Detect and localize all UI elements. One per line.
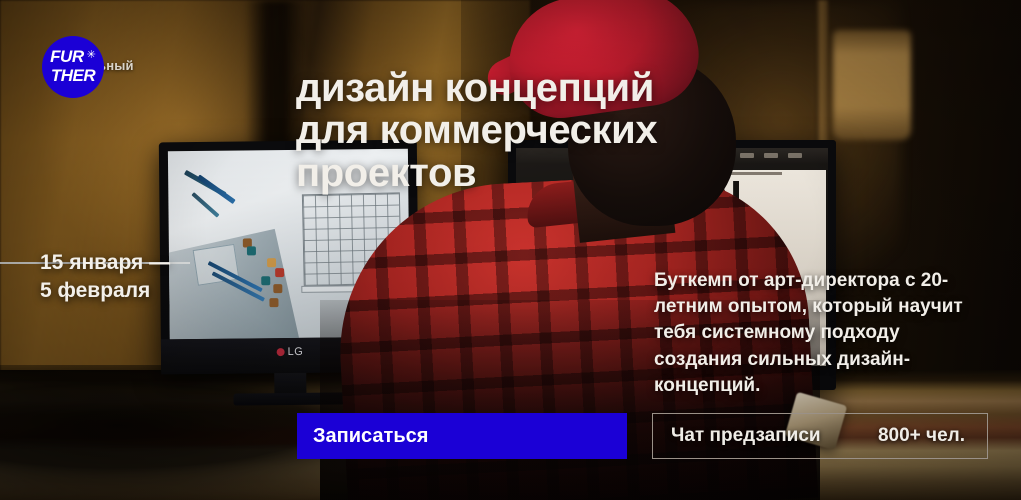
hero-overlay: ьный FUR ✳ THER дизайн концепций для ком… bbox=[0, 0, 1021, 500]
course-dates: 15 января — 5 февраля bbox=[40, 249, 170, 304]
chat-waitlist-count: 800+ чел. bbox=[878, 425, 965, 447]
course-description: Буткемп от арт-директора с 20-летним опы… bbox=[654, 268, 988, 399]
chat-waitlist-button[interactable]: Чат предзаписи 800+ чел. bbox=[652, 413, 988, 459]
signup-button[interactable]: Записаться bbox=[297, 413, 627, 459]
chat-waitlist-label: Чат предзаписи bbox=[671, 425, 821, 447]
logo-word-fur: FUR bbox=[50, 48, 83, 65]
further-logo[interactable]: FUR ✳ THER bbox=[42, 36, 104, 98]
asterisk-icon: ✳ bbox=[87, 50, 96, 61]
signup-button-label: Записаться bbox=[313, 425, 428, 448]
hero-screen: LG FIAC O-IN bbox=[0, 0, 1021, 500]
page-title: дизайн концепций для коммерческих проект… bbox=[296, 67, 716, 194]
logo-word-ther: THER bbox=[51, 66, 95, 86]
logo-top-row: FUR ✳ bbox=[50, 48, 96, 65]
